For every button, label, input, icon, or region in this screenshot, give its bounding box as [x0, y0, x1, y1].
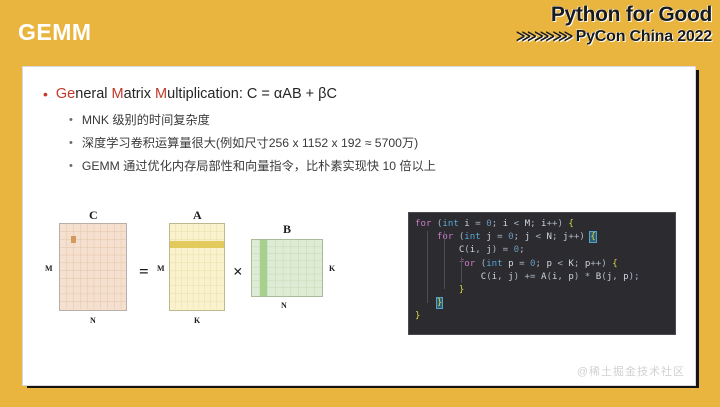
bullet-marker-icon: •	[69, 112, 73, 129]
list-item: • GEMM 通过优化内存局部性和向量指令，比朴素实现快 10 倍以上	[69, 158, 673, 175]
list-item: • MNK 级别的时间复杂度	[69, 112, 673, 129]
code-line: for (int j = 0; j < N; j++) {	[415, 231, 675, 244]
matrix-b-top-label: B	[283, 223, 291, 235]
matrix-a-grid-icon	[170, 224, 224, 309]
indent-guide	[427, 231, 428, 303]
logo-forgood-word: for Good	[620, 3, 712, 26]
main-bullet-text: General Matrix Multiplication: C = αAB +…	[56, 85, 337, 105]
matrix-c	[59, 223, 127, 311]
logo-python-word: Python	[551, 3, 620, 26]
matrix-b-bottom-label: N	[281, 302, 287, 310]
code-line: }	[415, 284, 675, 297]
matrix-b-right-label: K	[329, 265, 335, 273]
logo-tagline: Python for Good	[516, 4, 712, 27]
bullet-marker-icon: •	[69, 135, 73, 152]
matrix-a-bottom-label: K	[194, 317, 200, 325]
sub-bullet-list: • MNK 级别的时间复杂度 • 深度学习卷积运算量很大(例如尺寸256 x 1…	[43, 112, 673, 175]
bullet-marker-icon: •	[43, 85, 48, 104]
code-block[interactable]: for (int i = 0; i < M; i++) { for (int j…	[408, 212, 676, 335]
logo-subline: ⋙⋙⋙ PyCon China 2022	[516, 28, 712, 46]
list-item: • 深度学习卷积运算量很大(例如尺寸256 x 1152 x 192 ≈ 570…	[69, 135, 673, 152]
main-bullet: • General Matrix Multiplication: C = αAB…	[43, 85, 673, 105]
sub-bullet-text: GEMM 通过优化内存局部性和向量指令，比朴素实现快 10 倍以上	[82, 158, 436, 175]
main-bullet-seg3: ultiplication: C = αAB + βC	[167, 86, 337, 102]
sub-bullet-text: 深度学习卷积运算量很大(例如尺寸256 x 1152 x 192 ≈ 5700万…	[82, 135, 418, 152]
bullet-list: • General Matrix Multiplication: C = αAB…	[43, 85, 673, 181]
main-bullet-seg2: atrix	[124, 86, 155, 102]
matrix-c-highlighted-cell	[71, 236, 76, 243]
gemm-highlight-m2: M	[155, 86, 167, 102]
gemm-highlight-m1: M	[112, 86, 124, 102]
code-line: }	[415, 297, 675, 310]
code-line: }	[415, 310, 675, 323]
code-line: for (int i = 0; i < M; i++) {	[415, 218, 675, 231]
matrix-b-highlighted-column	[260, 240, 267, 296]
chevrons-icon: ⋙⋙⋙	[516, 29, 571, 44]
matrix-c-top-label: C	[89, 209, 98, 221]
matrix-b	[251, 239, 323, 297]
matrix-c-left-label: M	[45, 265, 53, 273]
slide: GEMM Python for Good ⋙⋙⋙ PyCon China 202…	[0, 0, 720, 407]
indent-guide	[461, 257, 462, 283]
content-card: • General Matrix Multiplication: C = αAB…	[22, 66, 696, 386]
gemm-highlight-g: Ge	[56, 86, 75, 102]
times-operator: ×	[233, 263, 243, 280]
sub-bullet-text: MNK 级别的时间复杂度	[82, 112, 210, 129]
code-line: C(i, j) += A(i, p) * B(j, p);	[415, 271, 675, 284]
page-title: GEMM	[18, 21, 92, 44]
main-bullet-seg1: neral	[75, 86, 111, 102]
matrix-a-top-label: A	[193, 209, 202, 221]
matrix-c-grid-icon	[60, 224, 126, 309]
matrix-multiplication-diagram: C M	[53, 209, 403, 359]
matrix-a-highlighted-row	[170, 241, 224, 248]
equals-operator: =	[139, 263, 149, 280]
bullet-marker-icon: •	[69, 158, 73, 175]
slide-header: GEMM Python for Good ⋙⋙⋙ PyCon China 202…	[0, 0, 720, 62]
conference-logo: Python for Good ⋙⋙⋙ PyCon China 2022	[516, 4, 712, 45]
indent-guide	[444, 231, 445, 289]
logo-event-name: PyCon China 2022	[576, 28, 712, 46]
watermark: @稀土掘金技术社区	[577, 363, 685, 379]
code-line: C(i, j) = 0;	[415, 244, 675, 257]
code-line: for (int p = 0; p < K; p++) {	[415, 258, 675, 271]
matrix-a-left-label: M	[157, 265, 165, 273]
matrix-c-bottom-label: N	[90, 317, 96, 325]
matrix-a	[169, 223, 225, 311]
